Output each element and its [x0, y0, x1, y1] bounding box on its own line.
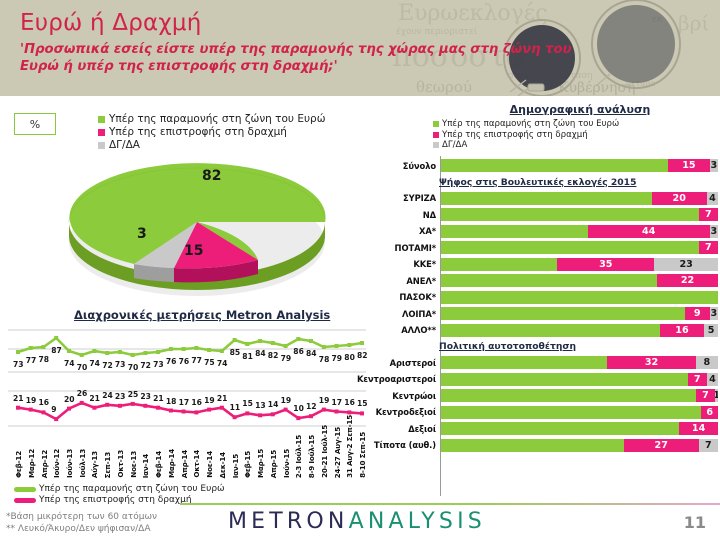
bar-row-label: Τίποτα (αυθ.) [395, 438, 439, 453]
bar-row-label: ΛΟΙΠΑ* [395, 306, 439, 321]
page-number: 11 [684, 513, 706, 532]
line-point [16, 350, 20, 354]
line-point [322, 345, 326, 349]
line-chart-title: Διαχρονικές μετρήσεις Metron Analysis [74, 308, 330, 322]
line-legend-item-euro: Υπέρ της παραμονής στη ζώνη του Ευρώ [14, 484, 225, 494]
x-axis-tick-label: Μαρ-12 [27, 449, 36, 478]
pie-value-dk: 3 [137, 226, 147, 242]
bar-legend-label-drachma: Υπέρ της επιστροφής στη δραχμή [442, 130, 588, 140]
bar-row: Κεντρώοι71 [395, 388, 720, 403]
line-point [258, 339, 262, 343]
x-axis-tick-label: Φεβ-12 [14, 451, 23, 478]
bar-row-label: Κεντρώοι [395, 388, 439, 403]
bar-segment-dk: 3 [710, 307, 718, 320]
bar-row-label: ΠΑΣΟΚ* [395, 290, 439, 305]
x-axis-tick-label: Ιαν-15 [231, 454, 240, 478]
bar-segment-dk: 23 [654, 258, 718, 271]
bar-segment-value: 7 [705, 440, 712, 451]
bar-segment-value: 22 [681, 275, 694, 286]
bar-segment-euro [441, 258, 557, 271]
line-point [347, 343, 351, 347]
bar-segment-value: 16 [675, 325, 688, 336]
x-axis-tick-label: Ιούν-15 [282, 449, 291, 478]
metron-analysis-logo: METRONANALYSIS [228, 509, 486, 534]
line-value-label: 23 [140, 392, 151, 401]
bar-row: Δεξιοί14 [395, 421, 720, 436]
bar-row: ΑΛΛΟ**165 [395, 323, 720, 338]
line-value-label: 80 [344, 353, 355, 362]
line-point [207, 348, 211, 352]
bar-row: ΠΟΤΑΜΙ*7 [395, 240, 720, 255]
bar-legend-item-drachma: Υπέρ της επιστροφής στη δραχμή [433, 130, 619, 140]
bar-segment-euro [441, 208, 699, 221]
demographic-analysis-panel: Δημογραφική ανάλυση Υπέρ της παραμονής σ… [395, 100, 720, 505]
bar-segment-drachma: 35 [557, 258, 654, 271]
line-value-label: 21 [217, 394, 228, 403]
bar-row-label: Αριστεροί [395, 355, 439, 370]
line-value-label: 72 [140, 361, 151, 370]
bar-segment-euro [441, 241, 699, 254]
line-value-label: 73 [115, 360, 126, 369]
footnote-2: ** Λευκό/Άκυρο/Δεν ψήφισαν/ΔΑ [6, 523, 157, 535]
line-point [80, 353, 84, 357]
x-axis-tick-label: 8-10 Σεπ-15 [358, 432, 367, 478]
line-legend-label-drachma: Υπέρ της επιστροφής στη δραχμή [39, 495, 192, 505]
bar-row: Κεντροαριστεροί74 [395, 372, 720, 387]
bar-row-track: 71 [441, 389, 718, 402]
line-point [156, 350, 160, 354]
line-value-label: 82 [357, 351, 368, 360]
footnote-1: *Βάση μικρότερη των 60 ατόμων [6, 511, 157, 523]
bar-row-label: ΠΟΤΑΜΙ* [395, 240, 439, 255]
line-value-label: 73 [13, 360, 24, 369]
bar-segment-euro [441, 406, 701, 419]
bar-legend-swatch-green [433, 121, 439, 127]
x-axis-tick-label: 31 Αυγ-2 Σεπ-15 [345, 415, 354, 478]
bar-segment-dk: 3 [710, 159, 718, 172]
line-point [284, 344, 288, 348]
bar-row-track: 14 [441, 422, 718, 435]
line-legend-swatch-green [14, 487, 36, 492]
bar-row-track: 22 [441, 274, 718, 287]
x-axis-tick-label: Αύγ-13 [90, 451, 99, 478]
bar-legend-swatch-grey [433, 142, 439, 148]
line-value-label: 78 [319, 355, 330, 364]
bar-segment-value: 9 [694, 308, 701, 319]
bar-row: ΛΟΙΠΑ*93 [395, 306, 720, 321]
logo-metron: METRON [228, 509, 349, 534]
line-value-label: 70 [77, 363, 88, 372]
bar-legend-label-dk: ΔΓ/ΔΑ [442, 140, 467, 150]
bar-row-track: 277 [441, 439, 718, 452]
x-axis-tick-label: Ιαν-14 [141, 454, 150, 478]
legend-swatch-magenta [98, 129, 105, 136]
bar-segment-drachma: 14 [679, 422, 718, 435]
bar-segment-drachma: 6 [701, 406, 718, 419]
bar-segment-euro [441, 422, 679, 435]
legend-label-euro: Υπέρ της παραμονής στη ζώνη του Ευρώ [109, 113, 326, 125]
x-axis-tick-label: Απρ-15 [269, 450, 278, 478]
bar-segment-dk: 5 [704, 324, 718, 337]
bar-segment-euro [441, 274, 657, 287]
line-point [118, 350, 122, 354]
svg-text:βρί: βρί [678, 11, 709, 35]
line-legend-label-euro: Υπέρ της παραμονής στη ζώνη του Ευρώ [39, 484, 225, 494]
legend-item-drachma: Υπέρ της επιστροφής στη δραχμή [98, 126, 326, 138]
x-axis-tick-label: Ιούν-13 [65, 449, 74, 478]
bar-row-label: ΚΚΕ* [395, 257, 439, 272]
bar-row-track [441, 291, 718, 304]
line-value-label: 74 [89, 359, 100, 368]
x-axis-tick-label: Φεβ-14 [154, 451, 163, 478]
x-axis-tick-label: 8-9 Ιούλ-15 [307, 435, 316, 478]
bar-row-label: ΑΝΕΛ* [395, 273, 439, 288]
bar-legend-label-euro: Υπέρ της παραμονής στη ζώνη του Ευρώ [442, 119, 619, 129]
line-point [169, 347, 173, 351]
bar-row: Αριστεροί328 [395, 355, 720, 370]
x-axis-tick-label: Φεβ-15 [243, 451, 252, 478]
line-point [105, 351, 109, 355]
bar-row-label: Κεντροδεξιοί [395, 405, 439, 420]
line-value-label: 25 [128, 390, 139, 399]
bar-segment-drachma: 7 [696, 389, 715, 402]
line-point [131, 353, 135, 357]
line-value-label: 77 [26, 356, 37, 365]
line-value-label: 84 [255, 349, 266, 358]
slide-header: Ευρωεκλογές έχουν περιοριστεί ποσοστό σα… [0, 0, 720, 96]
line-point [245, 342, 249, 346]
bar-segment-drachma: 7 [699, 241, 718, 254]
bar-segment-value: 27 [655, 440, 668, 451]
x-axis-tick-label: Απρ-14 [180, 450, 189, 478]
line-value-label: 82 [268, 351, 279, 360]
page-title: Ευρώ ή Δραχμή [20, 10, 202, 36]
bar-row: Κεντροδεξιοί6 [395, 405, 720, 420]
x-axis-tick-label: 20-21 Ιούλ-15 [320, 425, 329, 478]
line-point [42, 345, 46, 349]
bar-chart-legend: Υπέρ της παραμονής στη ζώνη του Ευρώ Υπέ… [433, 119, 619, 151]
x-axis-tick-label: Μαρ-15 [256, 449, 265, 478]
line-chart-x-axis: Φεβ-12Μαρ-12Απρ-12Ιούν-12Ιούν-13Ιούλ-13Α… [6, 403, 370, 478]
bar-segment-drachma: 16 [660, 324, 704, 337]
bar-segment-value: 35 [599, 259, 612, 270]
bar-row-label: Δεξιοί [395, 421, 439, 436]
bar-row-label: ΝΔ [395, 207, 439, 222]
bar-segment-value: 7 [705, 209, 712, 220]
line-value-label: 84 [306, 349, 317, 358]
x-axis-tick-label: Απρ-12 [40, 450, 49, 478]
bar-segment-euro [441, 389, 696, 402]
bar-legend-item-dk: ΔΓ/ΔΑ [433, 140, 619, 150]
line-value-label: 81 [242, 352, 253, 361]
bar-segment-euro [441, 373, 688, 386]
line-value-label: 79 [332, 354, 343, 363]
bar-segment-euro [441, 324, 660, 337]
bar-row-track: 443 [441, 225, 718, 238]
bar-segment-euro [441, 307, 685, 320]
bar-row-track: 153 [441, 159, 718, 172]
bar-segment-euro [441, 225, 588, 238]
percent-unit-label: % [30, 118, 40, 131]
bar-segment-drachma: 32 [607, 356, 696, 369]
bar-row-label: ΑΛΛΟ** [395, 323, 439, 338]
line-value-label: 21 [153, 394, 164, 403]
bar-segment-dk: 8 [696, 356, 718, 369]
bar-row-track: 165 [441, 324, 718, 337]
pie-value-euro: 82 [202, 168, 221, 184]
bar-row-label: ΣΥΡΙΖΑ [395, 191, 439, 206]
bar-row: ΑΝΕΛ*22 [395, 273, 720, 288]
line-value-label: 72 [102, 361, 113, 370]
line-value-label: 87 [51, 346, 62, 355]
bar-row-track: 7 [441, 208, 718, 221]
line-value-label: 74 [217, 359, 228, 368]
svg-text:Ευρωεκλογές: Ευρωεκλογές [398, 1, 548, 26]
line-value-label: 73 [153, 360, 164, 369]
x-axis-tick-label: 2-3 Ιούλ-15 [294, 435, 303, 478]
line-point [309, 339, 313, 343]
line-point [271, 341, 275, 345]
percent-unit-badge: % [14, 113, 56, 135]
bar-segment-value: 32 [645, 357, 658, 368]
x-axis-tick-label: 24-27 Αυγ-15 [333, 427, 342, 478]
bar-segment-dk: 4 [707, 192, 718, 205]
x-axis-tick-label: Μαρ-14 [167, 449, 176, 478]
bar-segment-value: 5 [708, 325, 715, 336]
line-legend-swatch-magenta [14, 498, 36, 503]
bar-segment-euro [441, 159, 668, 172]
bar-segment-value: 4 [709, 374, 716, 385]
x-axis-tick-label: Νοε-13 [129, 451, 138, 478]
bar-section-heading: Πολιτική αυτοτοποθέτηση [439, 341, 576, 352]
legend-swatch-green [98, 116, 105, 123]
bar-segment-drachma: 9 [685, 307, 710, 320]
line-value-label: 75 [204, 358, 215, 367]
pie-legend: Υπέρ της παραμονής στη ζώνη του Ευρώ Υπέ… [98, 113, 326, 152]
line-point [296, 337, 300, 341]
bar-segment-value: 23 [679, 259, 692, 270]
bar-segment-drachma: 15 [668, 159, 710, 172]
line-value-label: 26 [77, 389, 88, 398]
svg-text:έχουν περιοριστεί: έχουν περιοριστεί [396, 26, 477, 37]
bar-segment-value: 20 [673, 193, 686, 204]
demographic-analysis-title: Δημογραφική ανάλυση [450, 103, 710, 116]
line-value-label: 76 [166, 357, 177, 366]
x-axis-tick-label: Νοε-14 [205, 451, 214, 478]
svg-text:ΣΥΡΙΖΑ: ΣΥΡΙΖΑ [430, 94, 488, 96]
bar-segment-value: 3 [710, 308, 717, 319]
page-subtitle: 'Προσωπικά εσείς είστε υπέρ της παραμονή… [20, 41, 580, 75]
line-point [29, 346, 33, 350]
bar-row-track: 328 [441, 356, 718, 369]
line-point [233, 338, 237, 342]
footnotes: *Βάση μικρότερη των 60 ατόμων ** Λευκό/Ά… [6, 511, 157, 535]
bar-row: ΣΥΡΙΖΑ204 [395, 191, 720, 206]
bar-segment-value: 1 [715, 390, 718, 401]
line-point [54, 336, 58, 340]
bar-segment-value: 44 [642, 226, 655, 237]
bar-segment-euro [441, 192, 652, 205]
bar-segment-drachma: 20 [652, 192, 707, 205]
bar-segment-value: 6 [706, 407, 713, 418]
bar-segment-euro [441, 439, 624, 452]
line-point [67, 349, 71, 353]
bar-segment-euro [441, 291, 718, 304]
bar-row-label: ΧΑ* [395, 224, 439, 239]
bar-row-track: 93 [441, 307, 718, 320]
footer-divider [180, 503, 720, 505]
bar-row: ΧΑ*443 [395, 224, 720, 239]
bar-segment-value: 4 [709, 193, 716, 204]
bar-segment-drachma: 44 [588, 225, 710, 238]
bar-segment-value: 7 [694, 374, 701, 385]
bar-segment-value: 3 [710, 226, 717, 237]
bar-segment-value: 14 [692, 423, 705, 434]
bar-row: ΚΚΕ*3523 [395, 257, 720, 272]
bar-section-heading: Ψήφος στις Βουλευτικές εκλογές 2015 [439, 177, 636, 188]
line-point [335, 344, 339, 348]
line-point [182, 347, 186, 351]
bar-row-label: Κεντροαριστεροί [395, 372, 439, 387]
bar-row-track: 7 [441, 241, 718, 254]
line-value-label: 21 [89, 394, 100, 403]
line-value-label: 85 [230, 348, 241, 357]
line-point [194, 346, 198, 350]
bar-segment-drachma: 27 [624, 439, 699, 452]
pie-chart-svg [62, 150, 332, 315]
bar-segment-dk: 3 [710, 225, 718, 238]
x-axis-tick-label: Σεπ-13 [103, 452, 112, 478]
line-point [220, 349, 224, 353]
bar-segment-value: 7 [705, 242, 712, 253]
x-axis-tick-label: Ιούλ-13 [78, 449, 87, 478]
legend-label-drachma: Υπέρ της επιστροφής στη δραχμή [109, 126, 287, 138]
bar-segment-drachma: 22 [657, 274, 718, 287]
line-point [360, 341, 364, 345]
bar-segment-drachma: 7 [688, 373, 707, 386]
line-point [143, 351, 147, 355]
bar-segment-dk: 4 [707, 373, 718, 386]
svg-text:Κυβέρνηση: Κυβέρνηση [558, 79, 635, 96]
bar-row: Σύνολο153 [395, 158, 720, 173]
bar-row-track: 74 [441, 373, 718, 386]
pie-chart: 82 15 3 [62, 150, 332, 315]
line-value-label: 74 [64, 359, 75, 368]
x-axis-tick-label: Ιούν-12 [52, 449, 61, 478]
bar-row-track: 204 [441, 192, 718, 205]
line-value-label: 77 [191, 356, 202, 365]
bar-legend-item-euro: Υπέρ της παραμονής στη ζώνη του Ευρώ [433, 119, 619, 129]
bar-row-track: 6 [441, 406, 718, 419]
x-axis-tick-label: Οκτ-13 [116, 450, 125, 478]
bar-segment-value: 15 [682, 160, 695, 171]
bar-row-track: 3523 [441, 258, 718, 271]
bar-legend-swatch-magenta [433, 132, 439, 138]
line-value-label: 23 [115, 392, 126, 401]
bar-row-label: Σύνολο [395, 158, 439, 173]
x-axis-tick-label: Οκτ-14 [192, 450, 201, 478]
line-value-label: 70 [128, 363, 139, 372]
bar-row: Τίποτα (αυθ.)277 [395, 438, 720, 453]
x-axis-tick-label: Δεκ-14 [218, 452, 227, 478]
line-value-label: 21 [13, 394, 24, 403]
bar-row: ΠΑΣΟΚ* [395, 290, 720, 305]
bar-segment-dk: 1 [715, 389, 718, 402]
line-value-label: 78 [39, 355, 50, 364]
pie-value-drachma: 15 [184, 243, 203, 259]
legend-swatch-grey [98, 142, 105, 149]
bar-segment-value: 7 [702, 390, 709, 401]
bar-segment-drachma: 7 [699, 208, 718, 221]
bar-segment-value: 3 [710, 160, 717, 171]
bar-segment-euro [441, 356, 607, 369]
logo-analysis: ANALYSIS [349, 509, 486, 534]
bar-row: ΝΔ7 [395, 207, 720, 222]
legend-item-euro: Υπέρ της παραμονής στη ζώνη του Ευρώ [98, 113, 326, 125]
bar-segment-value: 8 [704, 357, 711, 368]
line-value-label: 79 [281, 354, 292, 363]
line-value-label: 76 [179, 357, 190, 366]
line-point [92, 349, 96, 353]
line-value-label: 24 [102, 391, 113, 400]
line-value-label: 86 [293, 347, 304, 356]
bar-segment-dk: 7 [699, 439, 718, 452]
